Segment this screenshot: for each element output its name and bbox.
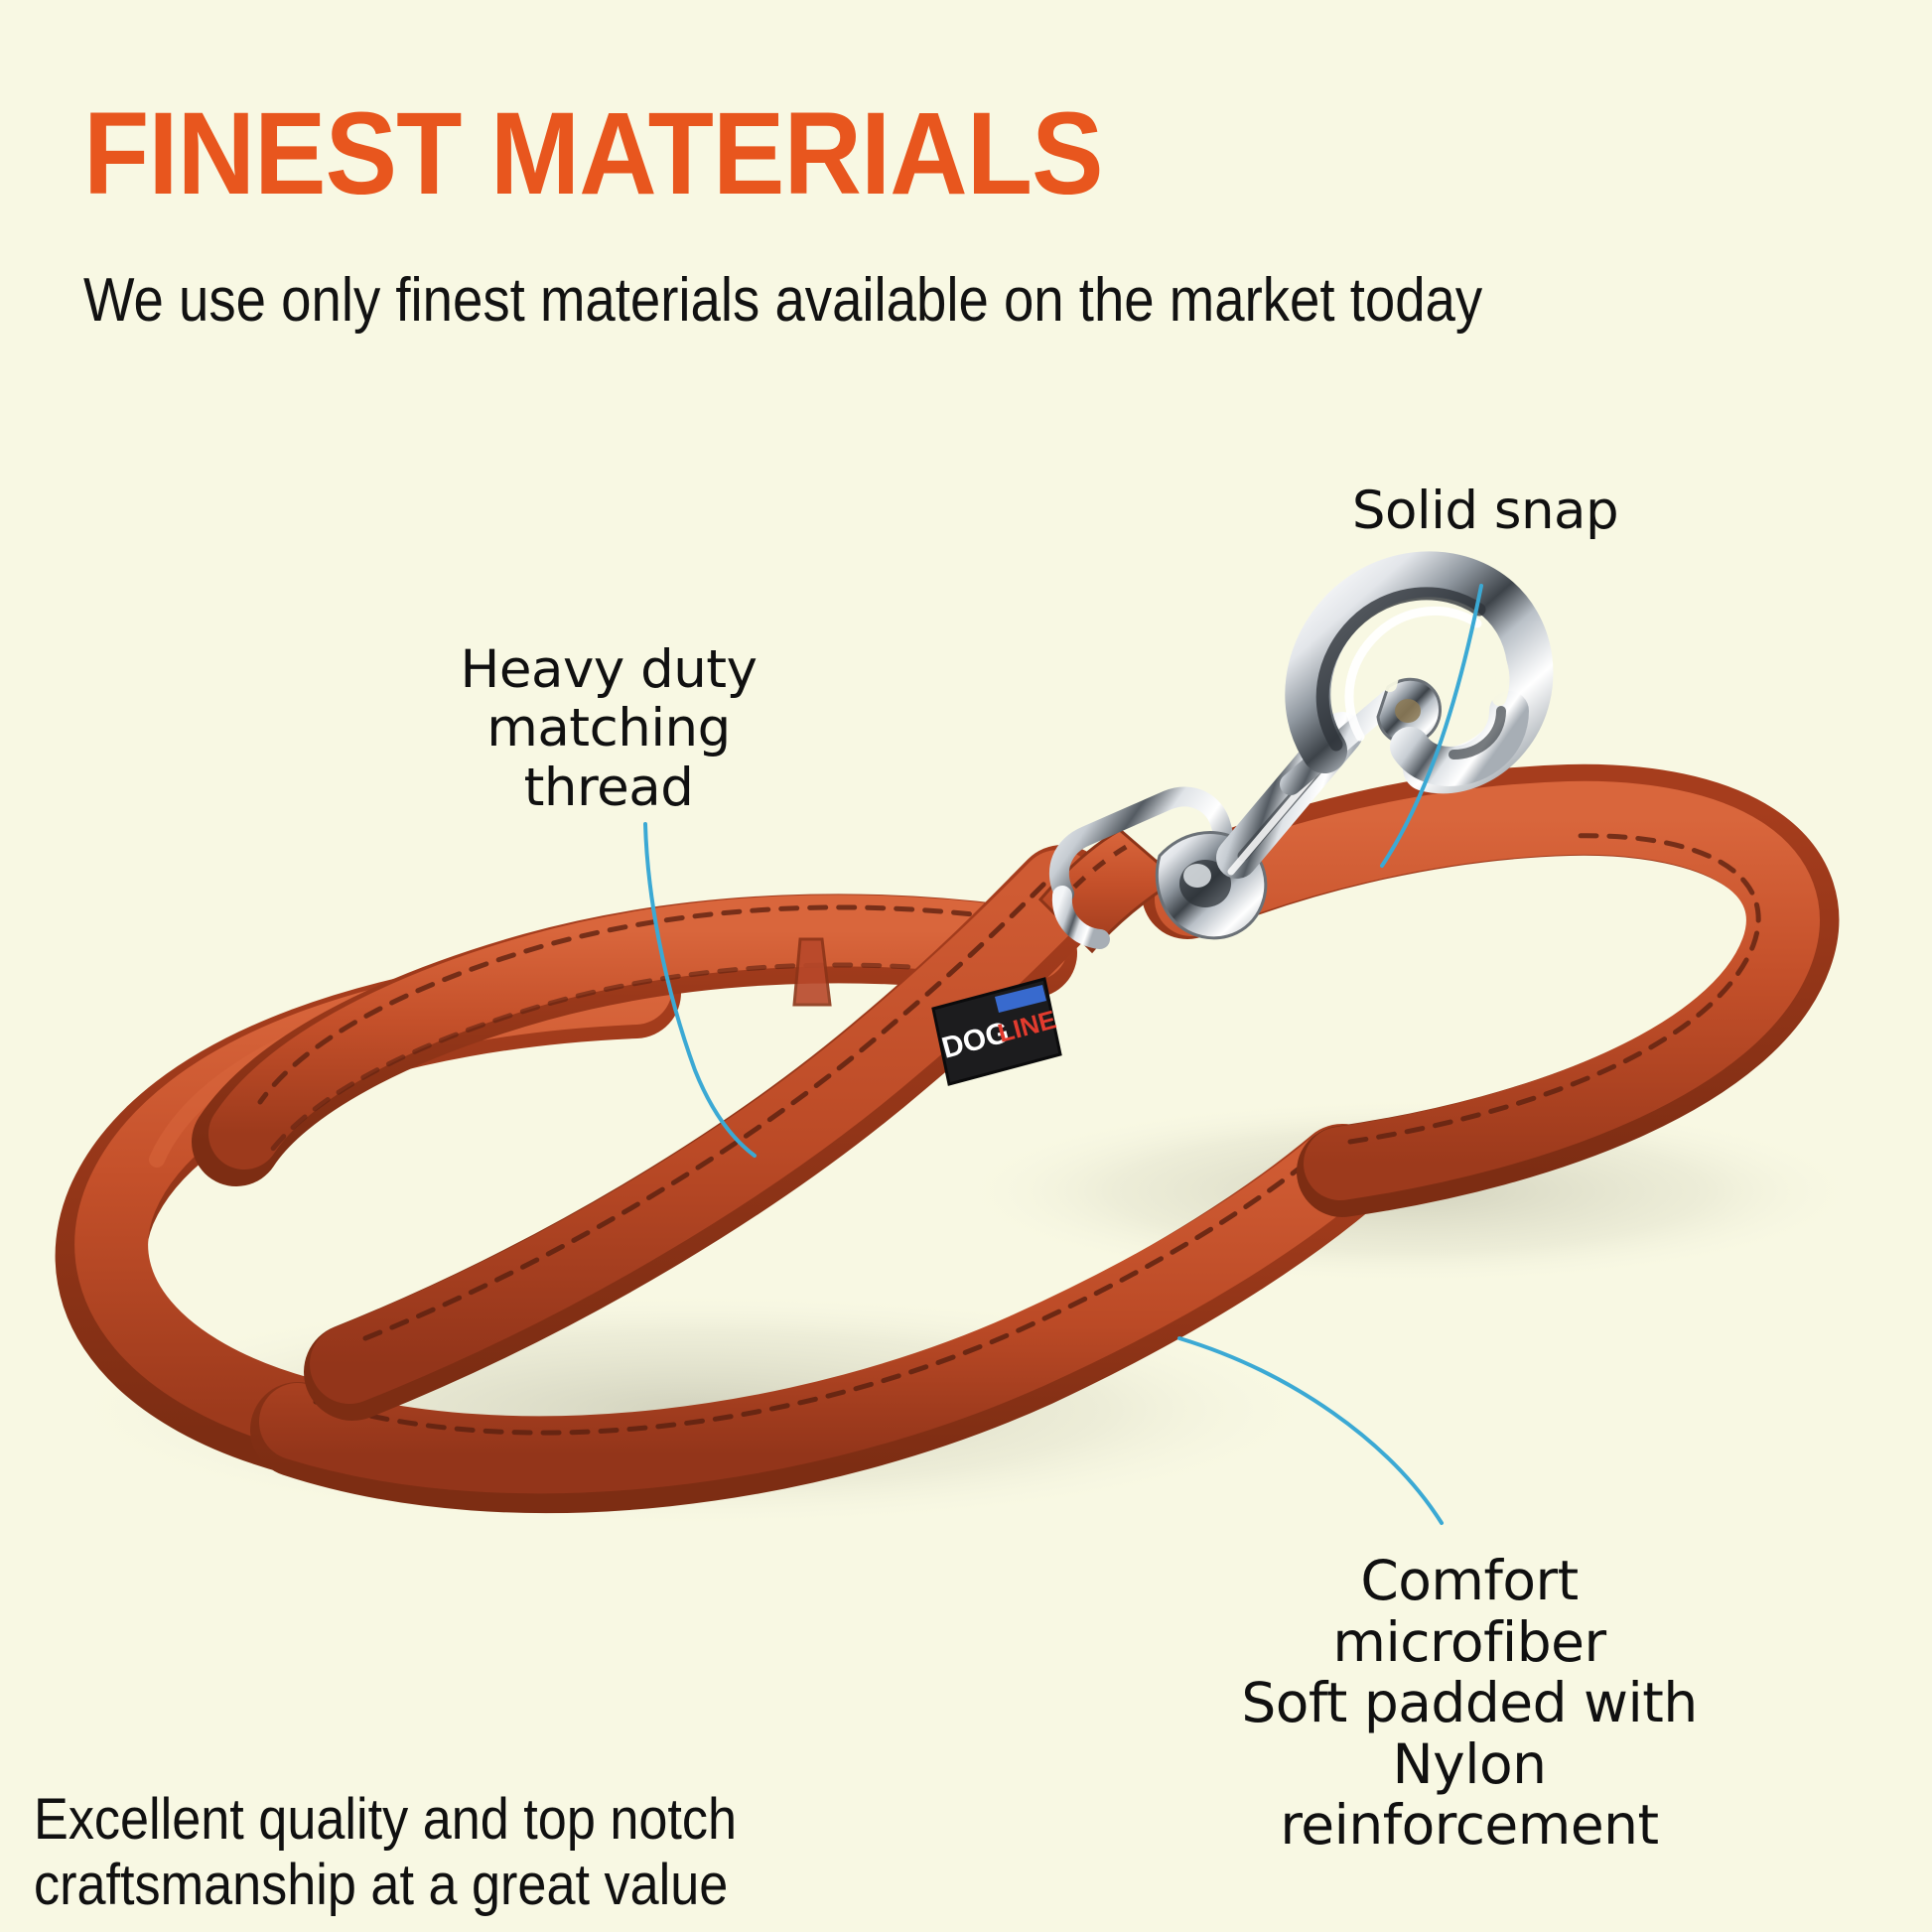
callout-heavy-duty-thread: Heavy duty matching thread bbox=[461, 640, 758, 817]
brand-tag: DOG LINE bbox=[933, 979, 1060, 1084]
snap-hook bbox=[1059, 574, 1531, 939]
page-subtitle: We use only finest materials available o… bbox=[83, 270, 1482, 332]
footer-note: Excellent quality and top notch craftsma… bbox=[34, 1787, 737, 1918]
leader-line-solid-snap bbox=[1382, 586, 1481, 866]
svg-text:DOG: DOG bbox=[938, 1016, 1013, 1065]
leader-line-microfiber bbox=[1179, 1338, 1442, 1523]
callout-comfort-microfiber: Comfort microfiber Soft padded with Nylo… bbox=[1238, 1551, 1701, 1857]
svg-text:LINE: LINE bbox=[995, 1004, 1059, 1047]
callout-solid-snap: Solid snap bbox=[1352, 482, 1618, 540]
page-title: FINEST MATERIALS bbox=[83, 95, 1103, 212]
product-infographic: FINEST MATERIALS We use only finest mate… bbox=[0, 0, 1932, 1932]
leader-line-thread bbox=[645, 824, 755, 1156]
